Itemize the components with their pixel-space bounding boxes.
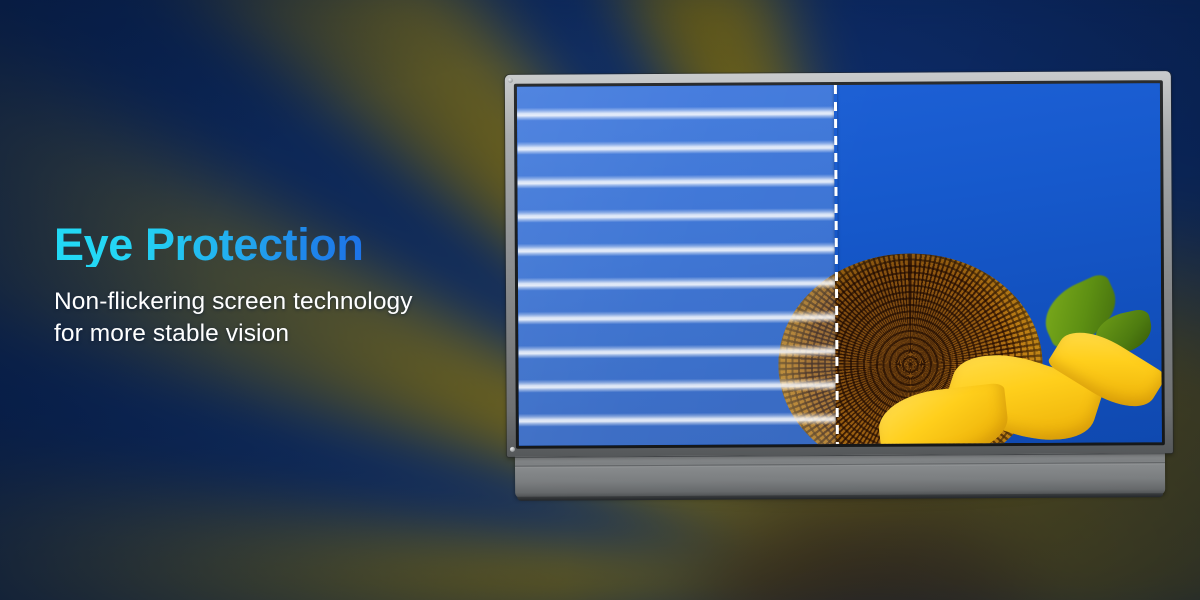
subheadline: Non-flickering screen technology for mor… — [54, 286, 524, 350]
bezel-screw-top-left — [508, 78, 513, 83]
monitor-screen — [517, 83, 1162, 446]
subheadline-line-1: Non-flickering screen technology — [54, 286, 524, 318]
flickering-display-half — [517, 85, 836, 446]
screen-image-flicker — [517, 85, 836, 446]
eye-protection-banner: Eye Protection Non-flickering screen tec… — [0, 0, 1200, 600]
headline: Eye Protection — [54, 222, 524, 267]
monitor-chin — [515, 452, 1165, 498]
monitor-inner-bezel — [514, 80, 1165, 449]
bezel-screw-bottom-left — [510, 447, 515, 452]
monitor-bezel — [505, 71, 1173, 457]
copy-block: Eye Protection Non-flickering screen tec… — [54, 222, 524, 350]
monitor-chin-groove — [515, 462, 1165, 468]
display-monitor — [505, 71, 1173, 499]
subheadline-line-2: for more stable vision — [54, 318, 524, 350]
